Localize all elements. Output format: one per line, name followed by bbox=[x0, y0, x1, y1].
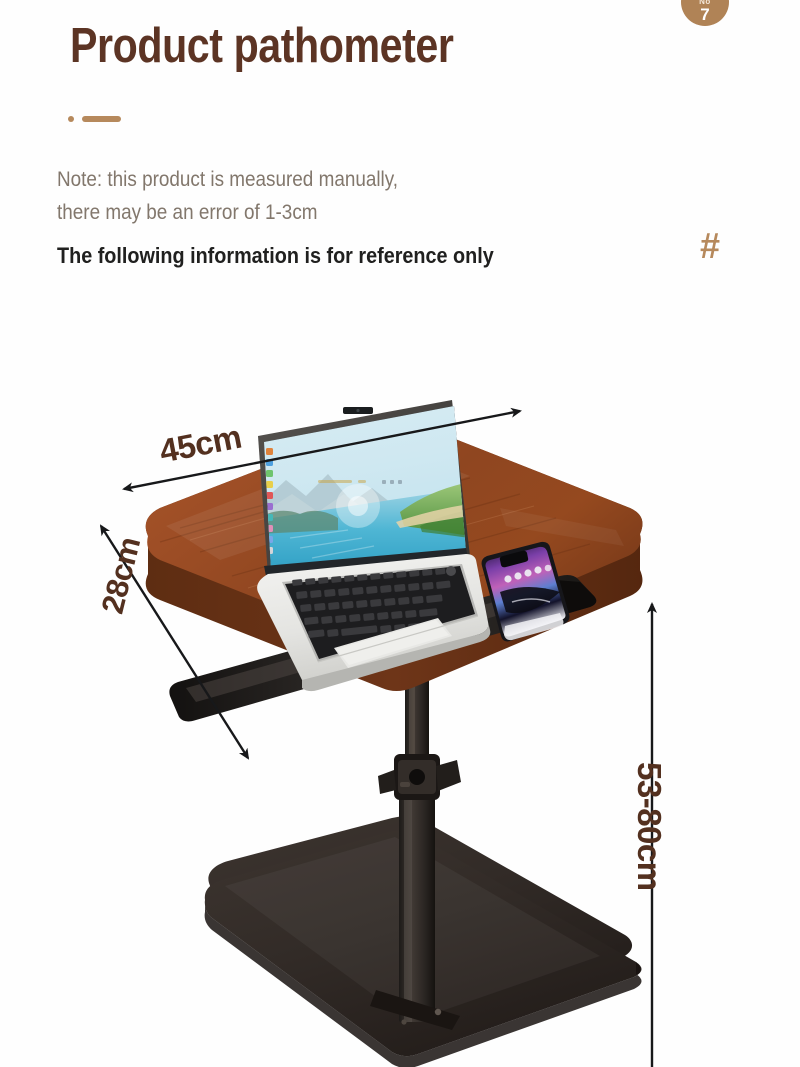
dimension-label-height: 53-80cm bbox=[630, 762, 668, 891]
note-line-1: Note: this product is measured manually, bbox=[57, 168, 398, 192]
adjustment-knob bbox=[378, 754, 461, 800]
page-title: Product pathometer bbox=[70, 18, 454, 74]
note-line-2: there may be an error of 1-3cm bbox=[57, 201, 318, 225]
divider-dot bbox=[68, 116, 74, 122]
hash-icon: # bbox=[700, 228, 720, 264]
title-divider bbox=[68, 116, 121, 122]
laptop bbox=[257, 396, 490, 691]
divider-bar bbox=[82, 116, 121, 122]
page-number-badge: No 7 bbox=[681, 0, 729, 26]
note-emphasis: The following information is for referen… bbox=[57, 243, 494, 269]
product-infographic-page: No 7 Product pathometer Note: this produ… bbox=[0, 0, 800, 1067]
badge-number: 7 bbox=[700, 6, 709, 23]
product-photo bbox=[0, 330, 800, 1067]
